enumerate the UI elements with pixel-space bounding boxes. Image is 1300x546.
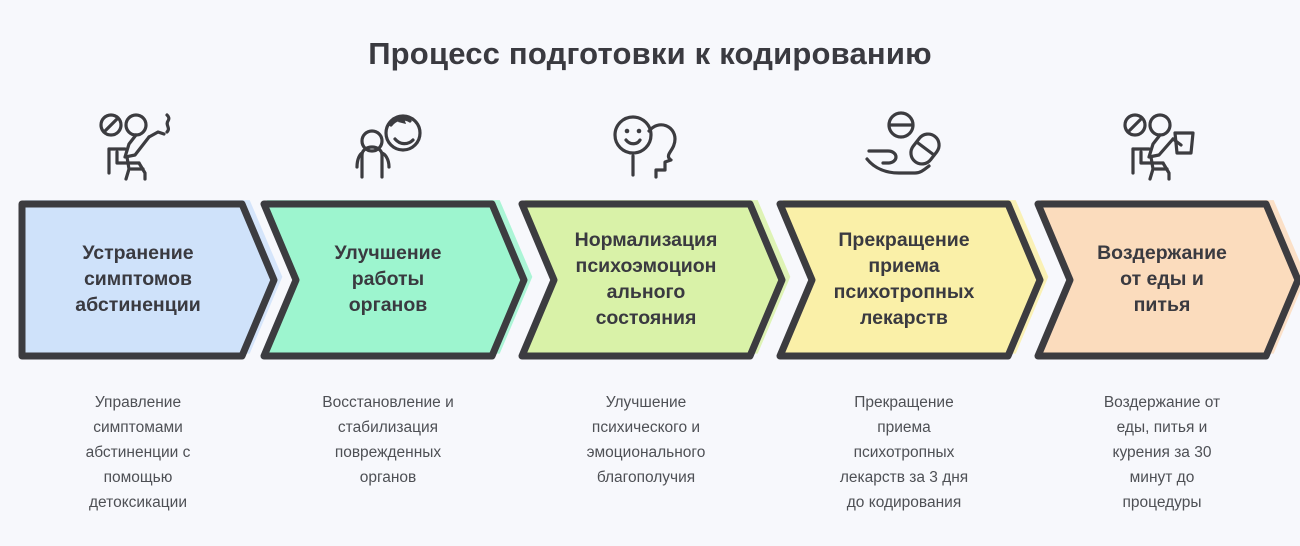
caption-line: Улучшение — [530, 390, 762, 415]
person-recovery-arrow-icon — [258, 108, 518, 184]
caption-line: абстиненции с — [22, 440, 254, 465]
caption-line: Воздержание от — [1046, 390, 1278, 415]
no-drinking-person-icon — [1032, 108, 1292, 184]
caption-line: психического и — [530, 415, 762, 440]
process-step-2[interactable]: Улучшение работы органов Восстановление … — [258, 100, 518, 546]
process-step-1[interactable]: Устранение симптомов абстиненции Управле… — [8, 100, 268, 546]
caption-line: помощью — [22, 465, 254, 490]
caption-line: приема — [788, 415, 1020, 440]
caption-line: еды, питья и — [1046, 415, 1278, 440]
process-step-3[interactable]: Нормализация психоэмоцион ального состоя… — [516, 100, 776, 546]
caption-line: детоксикации — [22, 490, 254, 515]
no-smoking-person-icon — [8, 108, 268, 184]
caption-line: Восстановление и — [272, 390, 504, 415]
process-steps-row: Устранение симптомов абстиненции Управле… — [0, 100, 1300, 546]
step-caption-5: Воздержание от еды, питья и курения за 3… — [1032, 390, 1292, 516]
chevron-shape-2 — [258, 190, 534, 370]
caption-line: стабилизация — [272, 415, 504, 440]
chevron-shape-4 — [774, 190, 1050, 370]
step-caption-2: Восстановление и стабилизация поврежденн… — [258, 390, 518, 490]
caption-line: поврежденных — [272, 440, 504, 465]
caption-line: психотропных — [788, 440, 1020, 465]
caption-line: органов — [272, 465, 504, 490]
process-step-5[interactable]: Воздержание от еды и питья Воздержание о… — [1032, 100, 1292, 546]
process-infographic: Процесс подготовки к кодированию — [0, 0, 1300, 546]
caption-line: лекарств за 3 дня — [788, 465, 1020, 490]
process-step-4[interactable]: Прекращение приема психотропных лекарств… — [774, 100, 1034, 546]
caption-line: симптомами — [22, 415, 254, 440]
caption-line: эмоционального — [530, 440, 762, 465]
hand-holding-pills-icon — [774, 108, 1034, 184]
caption-line: курения за 30 — [1046, 440, 1278, 465]
caption-line: процедуры — [1046, 490, 1278, 515]
caption-line: благополучия — [530, 465, 762, 490]
step-caption-1: Управление симптомами абстиненции с помо… — [8, 390, 268, 516]
chevron-shape-3 — [516, 190, 792, 370]
chevron-shape-1 — [8, 190, 284, 370]
caption-line: Прекращение — [788, 390, 1020, 415]
step-caption-4: Прекращение приема психотропных лекарств… — [774, 390, 1034, 516]
caption-line: минут до — [1046, 465, 1278, 490]
caption-line: до кодирования — [788, 490, 1020, 515]
step-caption-3: Улучшение психического и эмоционального … — [516, 390, 776, 490]
caption-line: Управление — [22, 390, 254, 415]
chevron-shape-5 — [1032, 190, 1300, 370]
head-smiley-mind-icon — [516, 108, 776, 184]
page-title: Процесс подготовки к кодированию — [0, 36, 1300, 72]
